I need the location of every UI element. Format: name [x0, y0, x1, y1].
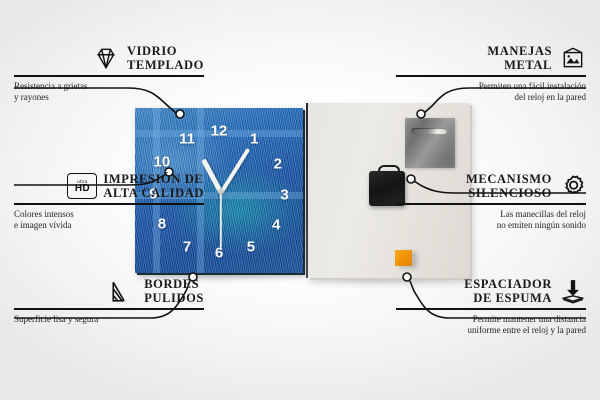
clock-center-cap — [218, 188, 224, 194]
callout-title: MANEJAS METAL — [487, 44, 552, 72]
clock-numeral-2: 2 — [274, 157, 282, 172]
callout-header: VIDRIO TEMPLADO — [14, 44, 204, 72]
callout-description: Permite mantener una distancia uniforme … — [396, 314, 586, 337]
callout-rule — [396, 308, 586, 310]
callout-title: IMPRESIÓN DE ALTA CALIDAD — [103, 172, 204, 200]
ultra-hd-icon-bottom-text: HD — [75, 184, 90, 194]
clock-numeral-1: 1 — [250, 132, 258, 147]
clock-numeral-3: 3 — [280, 188, 288, 203]
clock-numeral-7: 7 — [183, 239, 191, 254]
callout-header: BORDES PULIDOS — [14, 277, 204, 305]
clock-numeral-4: 4 — [272, 218, 280, 233]
clock-numeral-12: 12 — [211, 124, 228, 139]
callout-title: VIDRIO TEMPLADO — [127, 44, 204, 72]
diagonal-lines-icon — [110, 278, 136, 304]
diamond-icon — [93, 45, 119, 71]
clock-second-hand — [220, 191, 222, 247]
callout-silent-mechanism[interactable]: MECANISMO SILENCIOSO Las manecillas del … — [396, 172, 586, 232]
callout-title: MECANISMO SILENCIOSO — [466, 172, 552, 200]
callout-polished-edges[interactable]: BORDES PULIDOS Superficie lisa y segura — [14, 277, 204, 325]
callout-description: Resistencia a grietas y rayones — [14, 81, 204, 104]
callout-rule — [396, 75, 586, 77]
callout-title: ESPACIADOR DE ESPUMA — [464, 277, 552, 305]
callout-hd-print[interactable]: ultra HD IMPRESIÓN DE ALTA CALIDAD Color… — [14, 172, 204, 232]
gear-icon — [560, 173, 586, 199]
callout-title: BORDES PULIDOS — [144, 277, 204, 305]
metal-hanger-plate — [405, 118, 455, 168]
clock-numeral-6: 6 — [215, 246, 223, 261]
clock-minute-hand — [219, 147, 250, 193]
clock-numeral-5: 5 — [247, 239, 255, 254]
callout-rule — [14, 308, 204, 310]
callout-foam-spacer[interactable]: ESPACIADOR DE ESPUMA Permite mantener un… — [396, 277, 586, 337]
callout-description: Las manecillas del reloj no emiten ningú… — [396, 209, 586, 232]
arrow-down-pad-icon — [560, 278, 586, 304]
hanger-keyhole-slot — [411, 128, 447, 134]
clock-numeral-10: 10 — [154, 155, 171, 170]
infographic-canvas: 12 1 2 3 4 5 6 7 8 9 10 11 — [0, 0, 600, 400]
callout-header: ESPACIADOR DE ESPUMA — [396, 277, 586, 305]
picture-frame-icon — [560, 45, 586, 71]
callout-description: Colores intensos e imagen vívida — [14, 209, 204, 232]
clock-numeral-11: 11 — [179, 132, 195, 147]
callout-description: Permiten una fácil instalación del reloj… — [396, 81, 586, 104]
callout-header: MECANISMO SILENCIOSO — [396, 172, 586, 200]
callout-header: ultra HD IMPRESIÓN DE ALTA CALIDAD — [14, 172, 204, 200]
callout-metal-handles[interactable]: MANEJAS METAL Permiten una fácil instala… — [396, 44, 586, 104]
callout-rule — [14, 75, 204, 77]
callout-description: Superficie lisa y segura — [14, 314, 204, 326]
callout-rule — [14, 203, 204, 205]
foam-spacer-pad — [395, 250, 412, 266]
callout-rule — [396, 203, 586, 205]
callout-tempered-glass[interactable]: VIDRIO TEMPLADO Resistencia a grietas y … — [14, 44, 204, 104]
ultra-hd-icon: ultra HD — [67, 173, 95, 199]
callout-header: MANEJAS METAL — [396, 44, 586, 72]
